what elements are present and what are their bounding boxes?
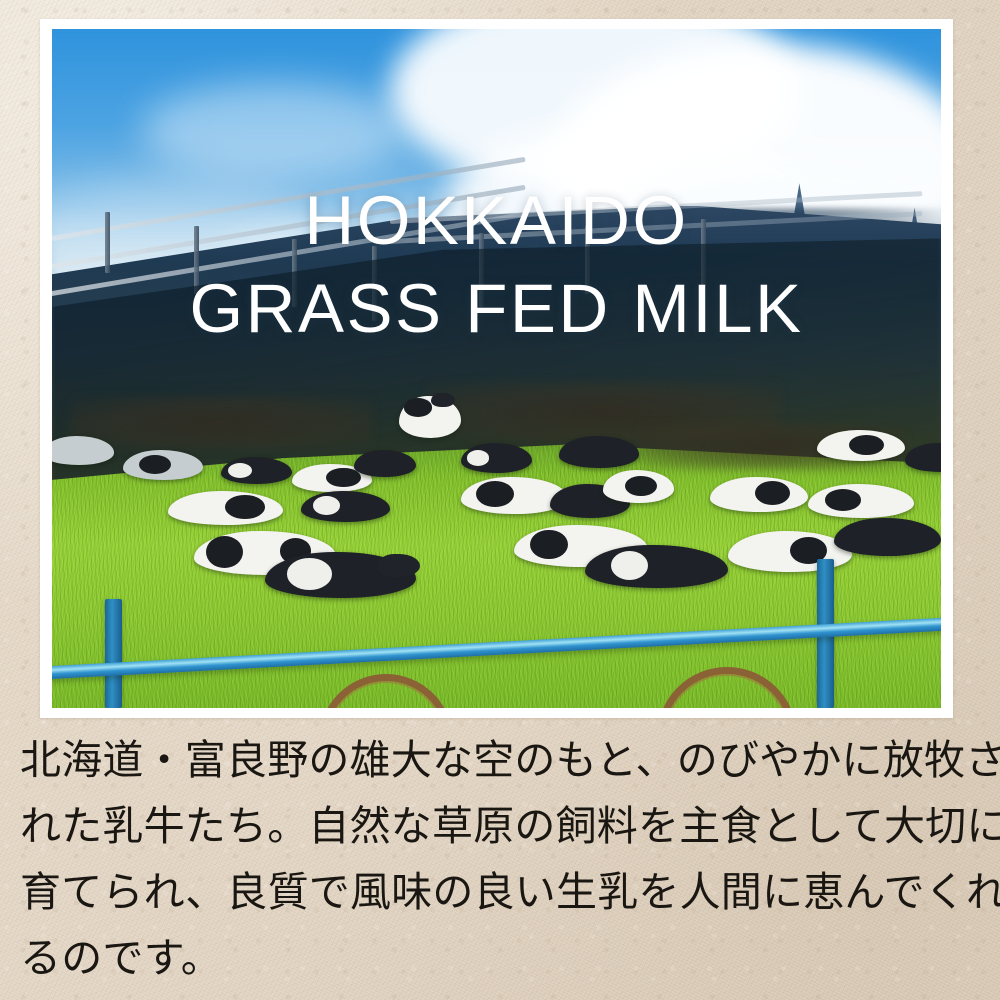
cow — [301, 491, 390, 522]
pasture-photograph: HOKKAIDO GRASS FED MILK — [52, 29, 941, 708]
cow-patch — [287, 558, 332, 589]
cow — [221, 457, 292, 484]
cloud-wisp-left — [141, 83, 408, 178]
cow — [559, 436, 639, 467]
caption-line-1: 北海道・富良野の雄大な空のもと、のびやかに放牧さ — [20, 727, 982, 793]
cow-patch — [404, 398, 433, 417]
bare-earth-patch — [70, 396, 372, 450]
cow-patch — [530, 530, 567, 559]
cow-patch — [625, 476, 658, 497]
cow — [808, 484, 915, 518]
cow-head — [377, 554, 419, 577]
cow — [834, 518, 941, 556]
cow-patch — [476, 481, 514, 507]
cow — [399, 396, 461, 438]
page-background: HOKKAIDO GRASS FED MILK 北海道・富良野の雄大な空のもと、… — [0, 0, 1000, 1000]
caption-line-4: るのです。 — [20, 925, 982, 991]
caption-line-2: れた乳牛たち。自然な草原の飼料を主食として大切に — [20, 793, 982, 859]
caption-line-3: 育てられ、良質で風味の良い生乳を人間に恵んでくれ — [20, 859, 982, 925]
cow-patch — [228, 463, 252, 478]
wooden-fence-post — [194, 226, 199, 294]
wooden-fence-post — [105, 212, 110, 273]
cow-patch — [206, 536, 243, 568]
cow-patch — [825, 489, 861, 511]
cow-patch — [139, 455, 171, 474]
cow — [710, 477, 808, 512]
cow — [603, 470, 674, 503]
cow — [265, 552, 416, 598]
cow-patch — [313, 496, 340, 515]
cow-patch — [849, 435, 885, 456]
cow-head — [431, 393, 455, 407]
blue-fence-post-left — [105, 599, 122, 708]
cow — [354, 450, 416, 477]
caption-paragraph: 北海道・富良野の雄大な空のもと、のびやかに放牧さ れた乳牛たち。自然な草原の飼料… — [20, 727, 982, 991]
cow-patch — [755, 481, 790, 505]
cow — [461, 443, 532, 473]
cow — [585, 545, 727, 588]
cow-patch — [467, 450, 490, 466]
cow-patch — [611, 551, 648, 580]
cow — [123, 450, 203, 480]
cow-patch — [225, 495, 264, 519]
photo-frame: HOKKAIDO GRASS FED MILK — [40, 19, 953, 718]
